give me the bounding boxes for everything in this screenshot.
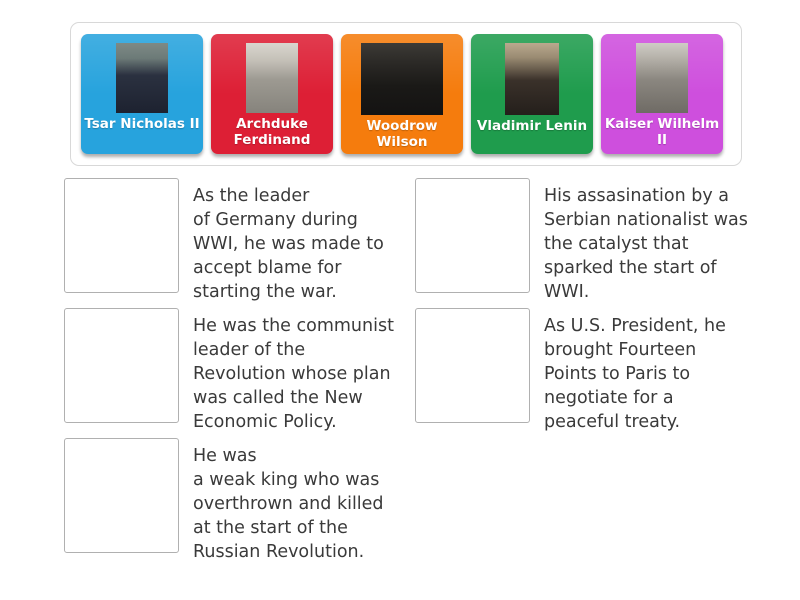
portrait-archduke-ferdinand-image bbox=[246, 43, 298, 113]
draggable-tile-kaiser-wilhelm-ii[interactable]: Kaiser Wilhelm II bbox=[601, 34, 723, 154]
draggable-tile-vladimir-lenin[interactable]: Vladimir Lenin bbox=[471, 34, 593, 154]
draggable-tile-tsar-nicholas-ii[interactable]: Tsar Nicholas II bbox=[81, 34, 203, 154]
tile-label: Kaiser Wilhelm II bbox=[601, 113, 723, 148]
drop-zone[interactable] bbox=[64, 438, 179, 553]
answer-row: He was a weak king who was overthrown an… bbox=[64, 438, 424, 554]
drop-zone[interactable] bbox=[415, 178, 530, 293]
portrait-vladimir-lenin-image bbox=[505, 43, 559, 115]
answers-column-right: His assasination by a Serbian nationalis… bbox=[415, 178, 775, 438]
answer-row: He was the communist leader of the Revol… bbox=[64, 308, 424, 424]
answer-text: He was a weak king who was overthrown an… bbox=[193, 438, 398, 564]
draggable-tile-woodrow-wilson[interactable]: Woodrow Wilson bbox=[341, 34, 463, 154]
draggable-tiles-tray: Tsar Nicholas II Archduke Ferdinand Wood… bbox=[70, 22, 742, 166]
answer-row: As U.S. President, he brought Fourteen P… bbox=[415, 308, 775, 424]
answers-column-left: As the leader of Germany during WWI, he … bbox=[64, 178, 424, 568]
portrait-tsar-nicholas-ii-image bbox=[116, 43, 168, 113]
answer-row: His assasination by a Serbian nationalis… bbox=[415, 178, 775, 294]
answer-text: As the leader of Germany during WWI, he … bbox=[193, 178, 398, 304]
tile-label: Woodrow Wilson bbox=[341, 115, 463, 150]
tile-label: Vladimir Lenin bbox=[471, 115, 593, 134]
drop-zone[interactable] bbox=[64, 178, 179, 293]
answer-row: As the leader of Germany during WWI, he … bbox=[64, 178, 424, 294]
portrait-kaiser-wilhelm-ii-image bbox=[636, 43, 688, 113]
drop-zone[interactable] bbox=[64, 308, 179, 423]
answer-text: As U.S. President, he brought Fourteen P… bbox=[544, 308, 754, 434]
tile-label: Archduke Ferdinand bbox=[211, 113, 333, 148]
draggable-tile-archduke-ferdinand[interactable]: Archduke Ferdinand bbox=[211, 34, 333, 154]
answer-text: He was the communist leader of the Revol… bbox=[193, 308, 398, 434]
drop-zone[interactable] bbox=[415, 308, 530, 423]
portrait-woodrow-wilson-image bbox=[361, 43, 443, 115]
answer-text: His assasination by a Serbian nationalis… bbox=[544, 178, 754, 304]
tile-label: Tsar Nicholas II bbox=[81, 113, 203, 132]
